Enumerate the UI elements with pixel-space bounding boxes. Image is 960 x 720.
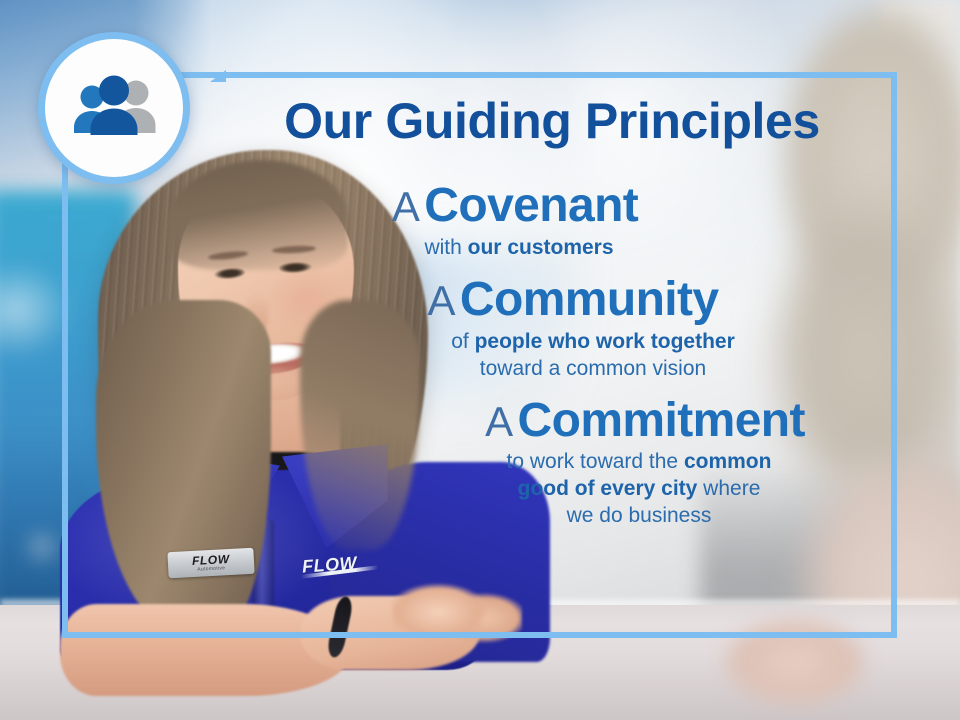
principle-item-community: A Community of people who work together … — [250, 276, 896, 383]
principle-word: Commitment — [518, 394, 805, 447]
principle-subtitle: with our customers — [196, 235, 842, 262]
text-run: of — [451, 330, 474, 353]
principle-item-covenant: A Covenant with our customers — [192, 182, 838, 262]
principle-article: A — [392, 183, 420, 230]
principle-title: A Covenant — [192, 182, 838, 231]
principle-subtitle-line: we do business — [316, 503, 960, 530]
principle-subtitle-line: of people who work together — [270, 329, 916, 356]
text-run-bold: our customers — [468, 236, 614, 259]
text-run: to work toward the — [507, 450, 684, 473]
principle-subtitle-line: to work toward the common — [316, 449, 960, 476]
principle-subtitle-line: good of every city where — [316, 476, 960, 503]
text-run-bold: people who work together — [475, 330, 735, 353]
photo-employee-hands — [392, 578, 522, 658]
principle-subtitle: to work toward the common good of every … — [316, 449, 960, 530]
principle-word: Covenant — [424, 179, 638, 232]
text-run: with — [424, 236, 467, 259]
text-run-bold: common — [684, 450, 772, 473]
principle-title: A Community — [250, 276, 896, 325]
text-run: toward a common vision — [480, 357, 706, 380]
principle-word: Community — [460, 273, 719, 326]
principle-article: A — [485, 398, 513, 445]
guiding-principles-banner: FLOW Automotive FLOW Our Guiding Princip… — [0, 0, 960, 720]
photo-employee-name-badge: FLOW Automotive — [167, 548, 254, 578]
name-badge-subtext: Automotive — [197, 566, 225, 572]
principle-article: A — [427, 277, 455, 324]
principle-subtitle-line: with our customers — [196, 235, 842, 262]
principle-title: A Commitment — [322, 397, 960, 446]
page-title: Our Guiding Principles — [216, 96, 888, 146]
text-run: where — [697, 477, 760, 500]
principle-subtitle-line: toward a common vision — [270, 356, 916, 383]
principle-subtitle: of people who work together toward a com… — [270, 329, 916, 383]
principle-item-commitment: A Commitment to work toward the common g… — [322, 397, 960, 531]
text-run-bold: good of every city — [518, 477, 698, 500]
photo-customer-hand — [700, 600, 900, 720]
text-run: we do business — [567, 504, 712, 527]
people-group-icon-badge — [38, 32, 190, 184]
people-group-icon — [66, 75, 162, 141]
principles-list: A Covenant with our customers A Communit… — [216, 182, 880, 544]
